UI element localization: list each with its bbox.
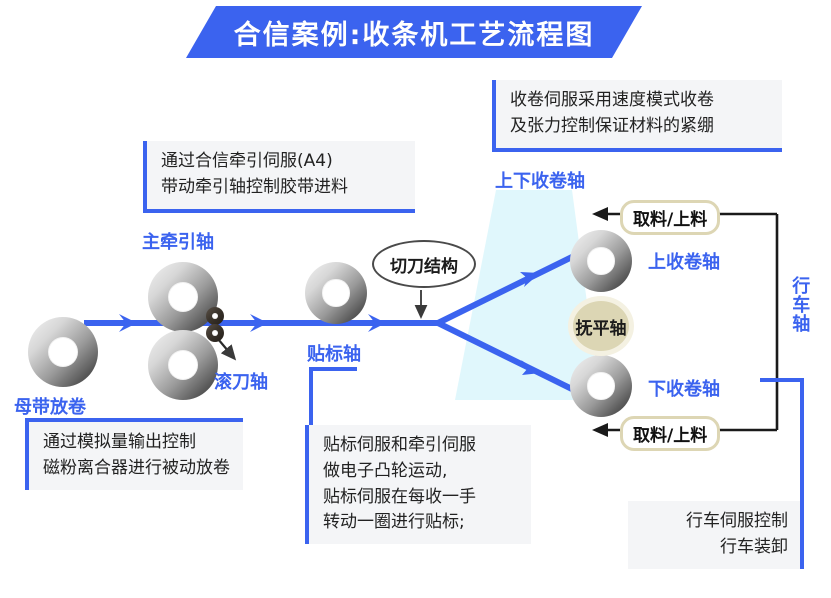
note-label-servo: 贴标伺服和牵引伺服 做电子凸轮运动, 贴标伺服在每收一手 转动一圈进行贴标; [305,425,531,544]
note-rewind: 收卷伺服采用速度模式收卷 及张力控制保证材料的紧绷 [492,80,782,152]
label-hob-shaft: 滚刀轴 [214,368,268,394]
parent-tape-unwind-text: 母带放卷 [14,397,86,418]
cutter-structure-callout: 切刀结构 [372,240,476,288]
label-main-traction-shaft: 主牵引轴 [142,228,214,254]
hob-shaft-ring-upper [206,307,224,325]
label-shaft-text: 贴标轴 [307,344,361,365]
label-roller [305,262,367,324]
label-crane-shaft: 行车轴 [789,276,810,333]
hob-shaft-ring-lower [206,324,224,342]
diagram-canvas: 合信案例:收条机工艺流程图 [0,0,831,598]
label-lower-rewind-shaft: 下收卷轴 [648,375,720,401]
flattening-shaft-node: 抚平轴 [568,296,634,356]
lower-rewind-shaft-text: 下收卷轴 [648,379,720,400]
note-crane: 行车伺服控制 行车装卸 [628,501,804,569]
main-traction-shaft-text: 主牵引轴 [142,232,214,253]
crane-shaft-text: 行车轴 [789,276,810,333]
note-unwind: 通过模拟量输出控制 磁粉离合器进行被动放卷 [25,418,243,490]
upper-lower-rewind-text: 上下收卷轴 [495,171,585,192]
pick-load-top-label: 取料/上料 [633,210,707,230]
label-upper-lower-rewind: 上下收卷轴 [495,167,585,193]
page-title: 合信案例:收条机工艺流程图 [234,13,595,52]
pick-load-pill-top: 取料/上料 [620,200,720,235]
upper-rewind-roller [570,230,632,292]
label-label-shaft: 贴标轴 [307,340,361,366]
hob-shaft-text: 滚刀轴 [214,372,268,393]
label-upper-rewind-shaft: 上收卷轴 [648,248,720,274]
lower-rewind-roller [570,355,632,417]
flattening-shaft-label: 抚平轴 [576,314,627,339]
traction-roller-lower [148,330,218,400]
title-ribbon: 合信案例:收条机工艺流程图 [186,6,642,58]
bracket-label-shaft [309,367,357,427]
pick-load-bottom-label: 取料/上料 [633,426,707,446]
cutter-structure-label: 切刀结构 [390,252,458,277]
label-parent-tape-unwind: 母带放卷 [14,393,86,419]
pick-load-pill-bottom: 取料/上料 [620,416,720,451]
unwind-roller [28,317,98,387]
upper-rewind-shaft-text: 上收卷轴 [648,252,720,273]
note-traction: 通过合信牵引伺服(A4) 带动牵引轴控制胶带进料 [143,141,415,213]
bracket-crane-shaft [760,378,804,506]
